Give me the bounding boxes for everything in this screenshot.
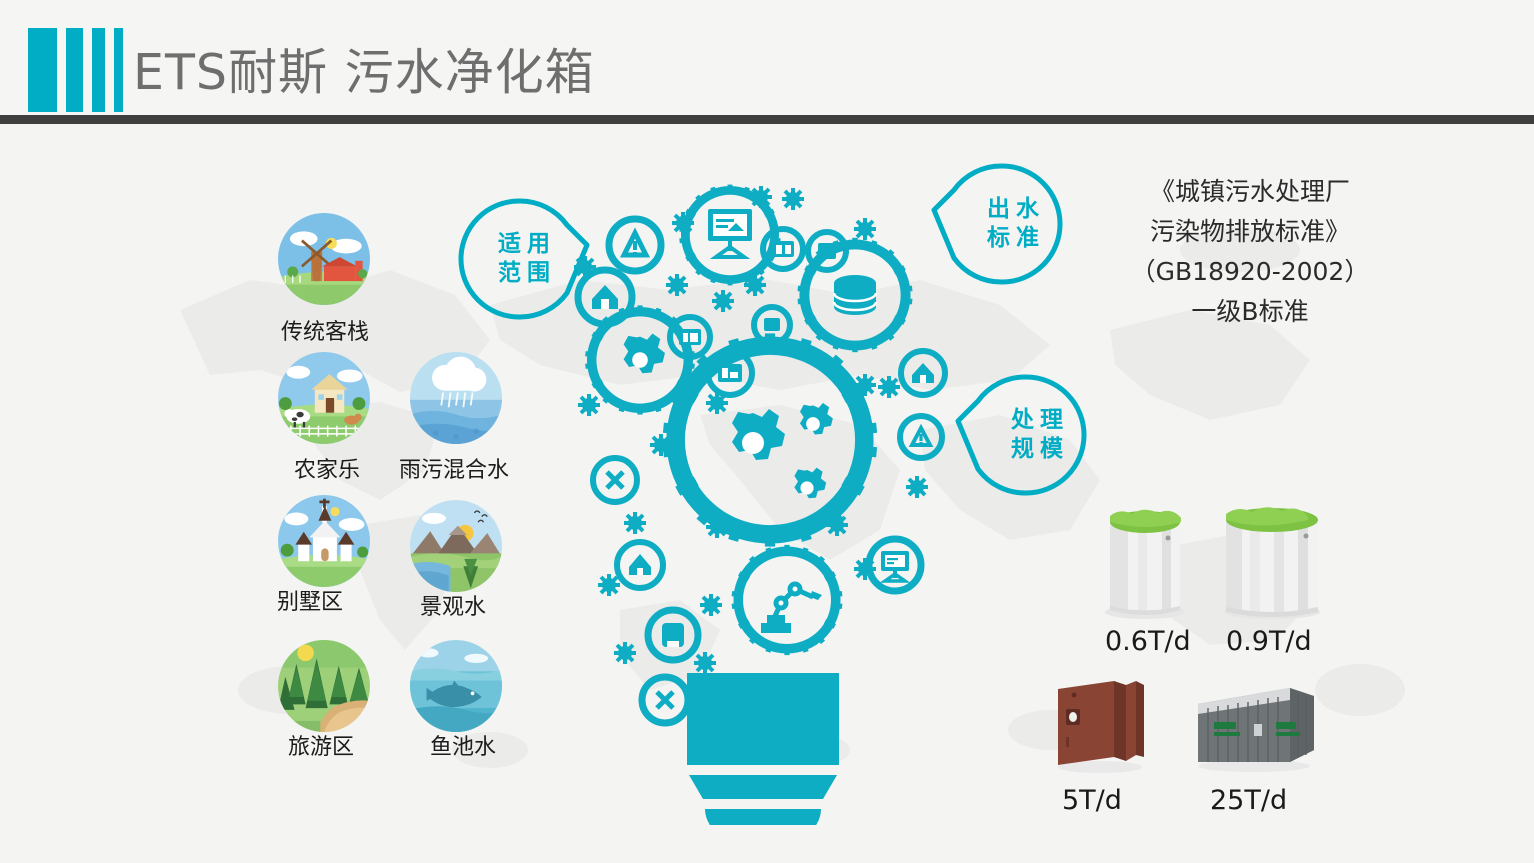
- header-divider: [0, 115, 1534, 124]
- icon-fish-pond: [410, 640, 502, 732]
- callout-capacity-line1: 处理: [1005, 406, 1069, 435]
- accent-bar-2: [66, 28, 83, 112]
- icon-forest-trail: [278, 640, 370, 732]
- callout-effluent-line1: 出水: [981, 195, 1045, 224]
- callout-scope-line2: 范围: [492, 259, 556, 288]
- product-image-3: [1190, 678, 1318, 774]
- accent-bar-4: [114, 28, 123, 112]
- accent-bar-1: [28, 28, 57, 112]
- icon-label-3: 别墅区: [277, 584, 343, 616]
- standard-line-0: 《城镇污水处理厂: [1100, 172, 1400, 212]
- product-image-0: [1098, 500, 1193, 622]
- icon-farmhouse-cow: [278, 352, 370, 444]
- callout-effluent-line2: 标准: [981, 224, 1045, 253]
- standard-line-2: （GB18920-2002）: [1100, 252, 1400, 292]
- icon-label-1: 农家乐: [294, 452, 360, 484]
- product-label-0: 0.6T/d: [1105, 626, 1191, 657]
- product-label-2: 5T/d: [1062, 785, 1122, 816]
- accent-bar-3: [92, 28, 105, 112]
- icon-label-2: 雨污混合水: [399, 452, 509, 484]
- page-title: ETS耐斯 污水净化箱: [133, 33, 595, 104]
- icon-windmill-farm: [278, 213, 370, 305]
- icon-label-4: 景观水: [420, 589, 486, 621]
- callout-capacity-line2: 规模: [1005, 435, 1069, 464]
- icon-label-0: 传统客栈: [281, 314, 369, 346]
- icon-mountain-lake: [410, 500, 502, 592]
- product-image-2: [1052, 673, 1148, 773]
- standard-line-1: 污染物排放标准》: [1100, 212, 1400, 252]
- header-accent-bars: [28, 28, 132, 112]
- lightbulb-gear-graphic: [565, 175, 975, 825]
- icon-villa-church: [278, 495, 370, 587]
- icon-rain-cloud-water: [410, 352, 502, 444]
- product-image-1: [1216, 496, 1328, 622]
- icon-label-5: 旅游区: [288, 729, 354, 761]
- effluent-standard-text: 《城镇污水处理厂 污染物排放标准》 （GB18920-2002） 一级B标准: [1100, 172, 1400, 332]
- slide-canvas: ETS耐斯 污水净化箱 传统客栈: [0, 0, 1534, 863]
- standard-line-3: 一级B标准: [1100, 292, 1400, 332]
- slide-header: ETS耐斯 污水净化箱: [0, 0, 1534, 115]
- product-label-1: 0.9T/d: [1226, 626, 1312, 657]
- product-label-3: 25T/d: [1210, 785, 1287, 816]
- icon-label-6: 鱼池水: [430, 729, 496, 761]
- callout-capacity-text: 处理 规模: [952, 371, 1106, 499]
- callout-scope-line1: 适用: [492, 230, 556, 259]
